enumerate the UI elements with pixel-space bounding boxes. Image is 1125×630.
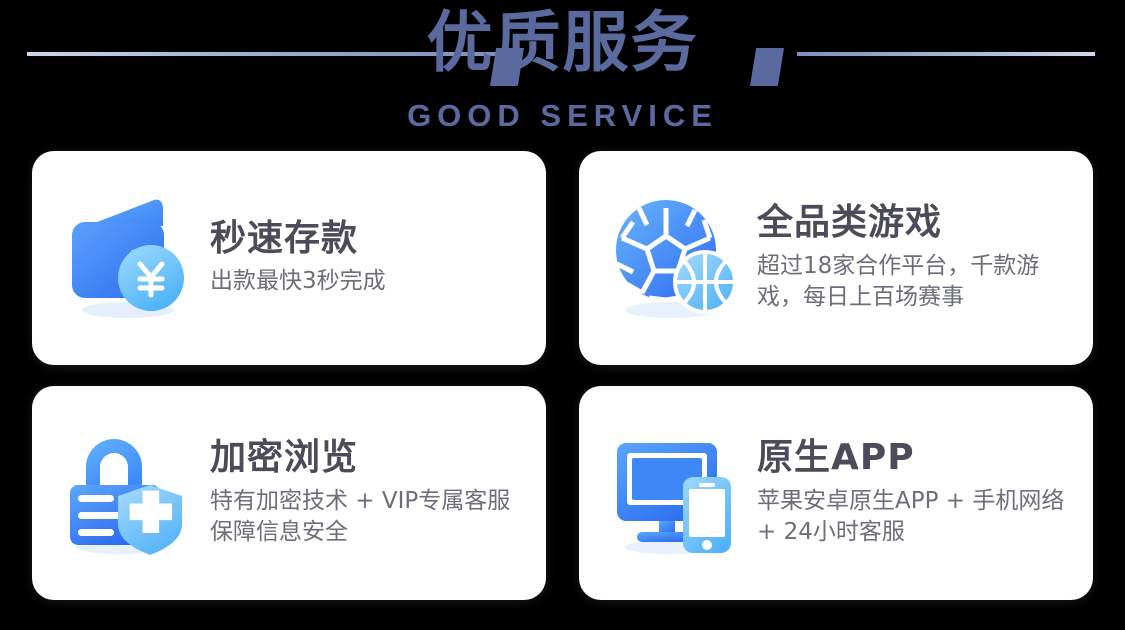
card-description: 超过18家合作平台，千款游戏，每日上百场赛事	[757, 251, 1075, 314]
card-title: 全品类游戏	[757, 202, 1075, 244]
feature-card-text: 秒速存款 出款最快3秒完成	[194, 218, 528, 298]
feature-card-text: 原生APP 苹果安卓原生APP + 手机网络 + 24小时客服	[741, 437, 1075, 549]
lock-shield-icon	[62, 427, 194, 559]
promo-page: 优质服务 GOOD SERVICE	[0, 0, 1125, 630]
card-description: 苹果安卓原生APP + 手机网络 + 24小时客服	[757, 486, 1075, 549]
page-header: 优质服务 GOOD SERVICE	[0, 0, 1125, 140]
page-subtitle: GOOD SERVICE	[0, 98, 1125, 134]
horizontal-rule-right-icon	[797, 52, 1095, 56]
wallet-yen-icon	[62, 192, 194, 324]
page-title: 优质服务	[0, 8, 1125, 77]
card-title: 原生APP	[757, 437, 1075, 479]
feature-card-text: 加密浏览 特有加密技术 + VIP专属客服保障信息安全	[194, 437, 528, 549]
feature-card-encryption[interactable]: 加密浏览 特有加密技术 + VIP专属客服保障信息安全	[32, 386, 546, 600]
soccer-basketball-icon	[609, 192, 741, 324]
feature-card-games[interactable]: 全品类游戏 超过18家合作平台，千款游戏，每日上百场赛事	[579, 151, 1093, 365]
card-title: 加密浏览	[210, 437, 528, 479]
monitor-phone-icon	[609, 427, 741, 559]
feature-card-text: 全品类游戏 超过18家合作平台，千款游戏，每日上百场赛事	[741, 202, 1075, 314]
card-description: 特有加密技术 + VIP专属客服保障信息安全	[210, 486, 528, 549]
feature-card-deposit[interactable]: 秒速存款 出款最快3秒完成	[32, 151, 546, 365]
card-description: 出款最快3秒完成	[210, 266, 528, 298]
card-title: 秒速存款	[210, 218, 528, 260]
feature-card-grid: 秒速存款 出款最快3秒完成	[32, 151, 1093, 600]
feature-card-native-app[interactable]: 原生APP 苹果安卓原生APP + 手机网络 + 24小时客服	[579, 386, 1093, 600]
